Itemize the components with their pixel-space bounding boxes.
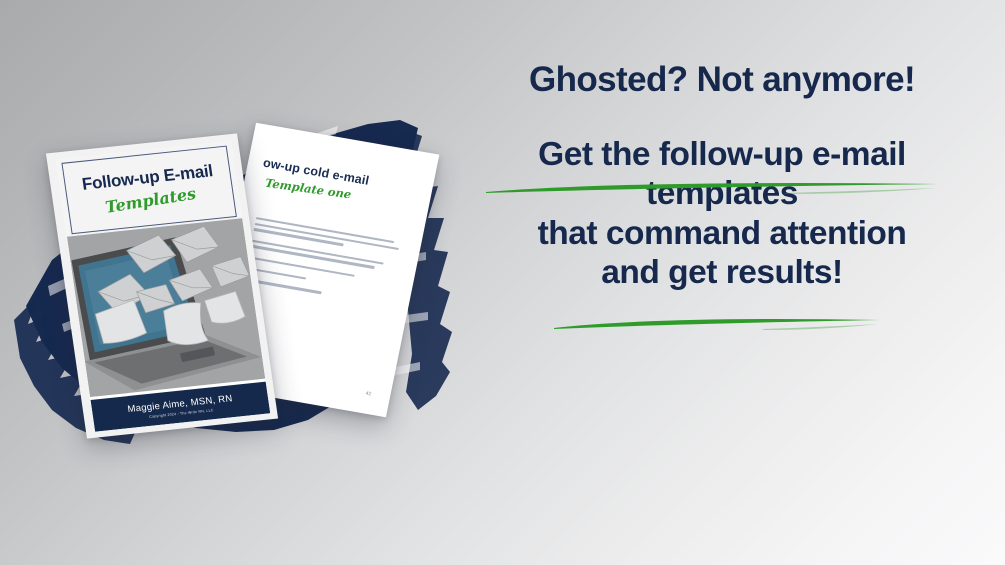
promo-graphic: ow-up cold e-mail Template one 42 Follow… <box>0 0 1005 565</box>
marketing-copy: Ghosted? Not anymore! Get the follow-up … <box>452 62 992 293</box>
green-underline-swoosh-2 <box>552 315 882 331</box>
cover-inner: Follow-up E-mail Templates <box>56 141 270 432</box>
subheadline-block: Get the follow-up e-mail templates that … <box>452 135 992 293</box>
subheadline-line-3: that command attention <box>452 214 992 254</box>
headline: Ghosted? Not anymore! <box>452 62 992 99</box>
subheadline-line-1: Get the follow-up e-mail <box>452 135 992 175</box>
subheadline-line-4: and get results! <box>452 253 992 293</box>
text-paragraph <box>243 278 387 305</box>
laptop-envelopes-illustration <box>67 218 265 397</box>
page-number: 42 <box>365 391 372 398</box>
subheadline-line-2: templates <box>452 174 992 214</box>
back-page-body <box>242 217 401 314</box>
ebook-cover: Follow-up E-mail Templates <box>46 133 278 438</box>
